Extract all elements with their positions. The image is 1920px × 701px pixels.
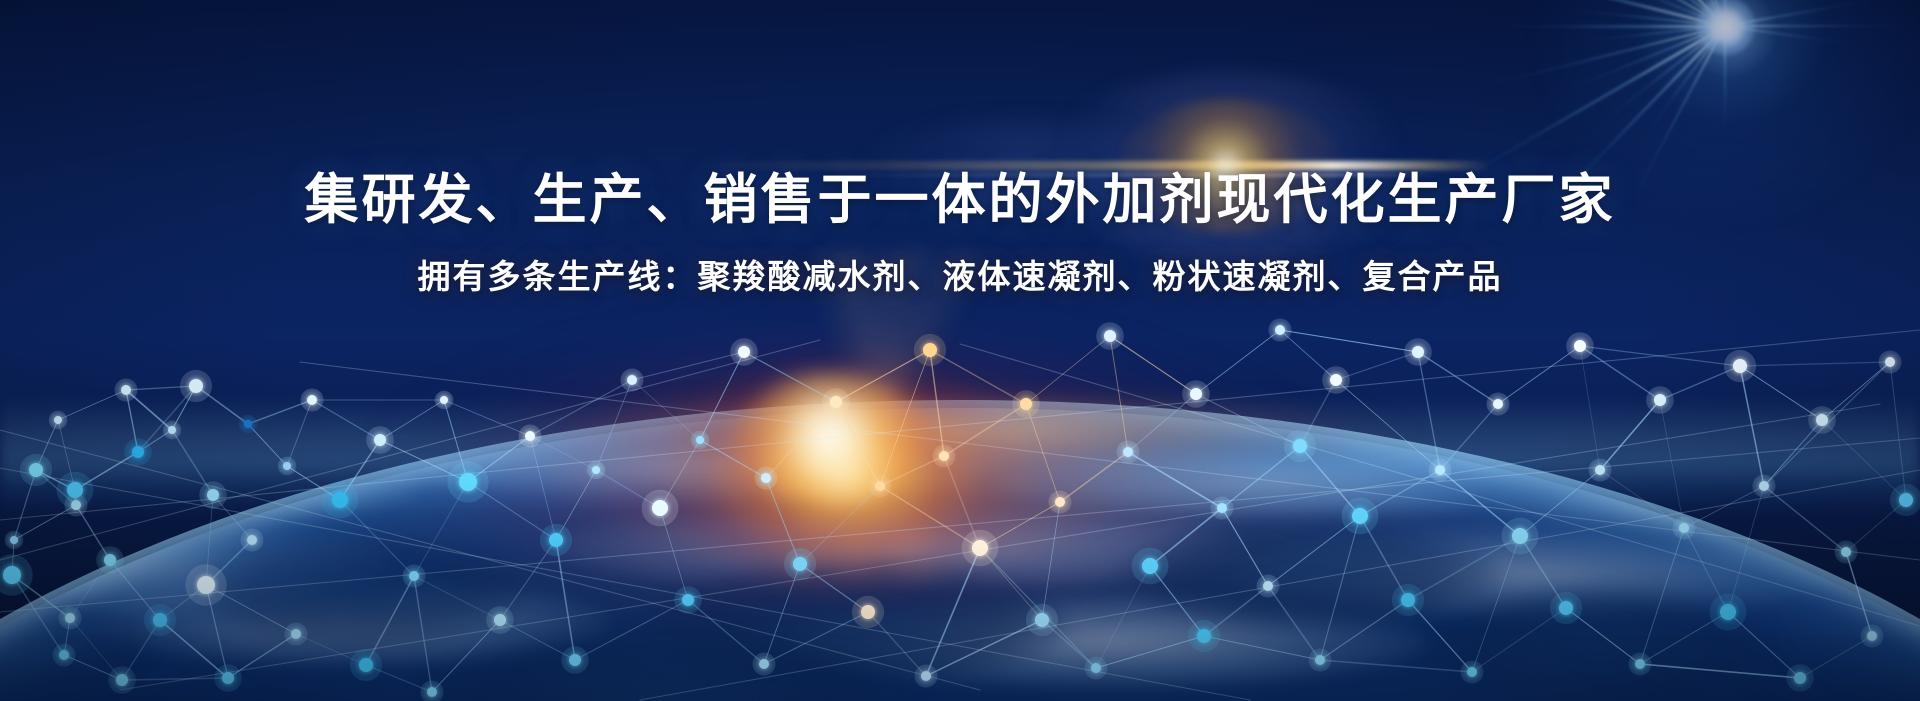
network-link <box>1408 536 1520 600</box>
network-node <box>1867 631 1877 641</box>
network-link <box>122 678 228 680</box>
network-node <box>1635 659 1645 669</box>
network-node <box>1595 465 1605 475</box>
network-link <box>688 600 764 664</box>
network-link <box>432 620 500 692</box>
network-node <box>197 576 215 594</box>
network-node <box>1467 667 1477 677</box>
network-link <box>575 600 688 660</box>
network-node <box>244 420 252 428</box>
network-link <box>1890 362 1906 500</box>
network-link <box>1096 636 1204 668</box>
network-node <box>121 385 131 395</box>
network-node <box>1352 508 1368 524</box>
network-node <box>283 462 291 470</box>
banner-text-block: 集研发、生产、销售于一体的外加剂现代化生产厂家 拥有多条生产线：聚羧酸减水剂、液… <box>0 168 1920 299</box>
network-node <box>549 533 563 547</box>
network-node <box>830 396 842 408</box>
network-node <box>1720 604 1736 620</box>
network-node <box>332 492 348 508</box>
network-nodes <box>0 319 1920 701</box>
network-node <box>440 396 448 404</box>
network-link <box>444 400 530 436</box>
network-node <box>1275 325 1285 335</box>
network-long-link <box>0 330 1920 520</box>
network-link <box>596 380 632 470</box>
network-link <box>836 402 880 486</box>
network-node <box>1142 558 1158 574</box>
network-link <box>1472 536 1520 672</box>
network-link <box>1728 486 1764 612</box>
network-link <box>926 620 1042 676</box>
network-node <box>759 659 769 669</box>
network-long-link <box>0 340 820 560</box>
network-node <box>569 654 581 666</box>
network-link <box>1320 660 1472 672</box>
network-node <box>1401 593 1415 607</box>
network-node <box>696 436 704 444</box>
network-node <box>1293 439 1307 453</box>
network-node <box>307 395 317 405</box>
network-node <box>409 571 419 581</box>
network-link <box>1222 508 1268 586</box>
network-node <box>1435 465 1445 475</box>
network-link <box>1498 346 1580 404</box>
network-node <box>921 671 931 681</box>
network-link <box>1600 400 1660 470</box>
network-node <box>59 650 69 660</box>
network-node <box>1197 629 1211 643</box>
network-node <box>54 416 62 424</box>
network-link <box>1640 528 1684 664</box>
network-link <box>800 486 880 564</box>
network-link <box>1822 420 1906 500</box>
network-node <box>459 473 477 491</box>
network-node <box>1217 503 1227 513</box>
network-link <box>1128 452 1222 508</box>
network-node <box>1315 655 1325 665</box>
network-link <box>414 576 500 620</box>
network-node <box>923 343 937 357</box>
network-node <box>1190 388 1202 400</box>
network-link <box>930 350 1026 404</box>
network-link <box>1196 330 1280 394</box>
network-node <box>861 605 875 619</box>
network-node <box>1654 394 1666 406</box>
network-link <box>1846 552 1872 636</box>
network-node <box>1885 357 1895 367</box>
network-node <box>1816 414 1828 426</box>
network-node <box>10 536 18 544</box>
network-node <box>3 566 21 584</box>
network-node <box>1055 497 1065 507</box>
network-node <box>1559 601 1573 615</box>
network-node <box>1412 346 1424 358</box>
network-node <box>1493 399 1503 409</box>
network-link <box>1268 586 1320 660</box>
network-node <box>132 446 144 458</box>
network-node <box>104 554 116 566</box>
network-node <box>972 540 988 556</box>
network-node <box>207 489 219 501</box>
network-node <box>1794 672 1806 684</box>
network-link <box>1472 608 1566 672</box>
hero-banner: 集研发、生产、销售于一体的外加剂现代化生产厂家 拥有多条生产线：聚羧酸减水剂、液… <box>0 0 1920 701</box>
network-node <box>427 687 437 697</box>
network-link <box>836 350 930 402</box>
network-node <box>1899 493 1913 507</box>
network-link <box>1026 336 1110 404</box>
network-long-link <box>640 470 1920 700</box>
network-node <box>1123 447 1133 457</box>
network-node <box>939 451 949 461</box>
network-node <box>1733 359 1747 373</box>
network-link <box>744 352 836 402</box>
network-node <box>652 500 668 516</box>
network-node <box>67 482 83 498</box>
network-node <box>761 473 771 483</box>
network-node <box>29 463 43 477</box>
network-link <box>1110 336 1196 394</box>
network-node <box>1330 374 1342 386</box>
network-node <box>247 535 257 545</box>
network-link <box>1684 486 1764 528</box>
network-long-link <box>960 344 1920 626</box>
network-link <box>1600 470 1684 528</box>
banner-subheadline: 拥有多条生产线：聚羧酸减水剂、液体速凝剂、粉状速凝剂、复合产品 <box>0 256 1920 299</box>
network-node <box>627 375 637 385</box>
network-link <box>944 404 1026 456</box>
network-node <box>1091 663 1101 673</box>
network-long-link <box>0 430 980 690</box>
network-node <box>189 379 203 393</box>
network-node <box>682 594 694 606</box>
network-link <box>1204 636 1320 660</box>
network-node <box>1679 523 1689 533</box>
network-node <box>1759 481 1769 491</box>
network-node <box>116 674 128 686</box>
network-node <box>738 346 750 358</box>
network-node <box>525 431 535 441</box>
network-link <box>556 540 575 660</box>
network-link <box>766 402 836 478</box>
network-link <box>414 576 432 692</box>
network-link <box>926 548 980 676</box>
network-node <box>875 481 885 491</box>
network-link <box>1110 336 1128 452</box>
network-link <box>1740 362 1890 366</box>
network-link <box>1336 380 1440 470</box>
network-link <box>530 380 632 436</box>
network-node <box>592 466 600 474</box>
network-node <box>65 613 75 623</box>
network-link <box>1440 404 1498 470</box>
network-node <box>1035 613 1049 627</box>
network-mesh-overlay <box>0 0 1920 701</box>
network-node <box>494 614 506 626</box>
network-node <box>1512 528 1528 544</box>
network-node <box>374 434 386 446</box>
network-link <box>1196 394 1300 446</box>
network-node <box>153 613 167 627</box>
network-link <box>1320 516 1360 660</box>
network-node <box>168 426 176 434</box>
network-node <box>1020 398 1032 410</box>
network-node <box>291 629 301 639</box>
network-node <box>359 658 373 672</box>
network-link <box>1042 502 1060 620</box>
network-node <box>222 672 234 684</box>
network-link <box>700 352 744 440</box>
network-link <box>1418 352 1440 470</box>
network-node <box>1263 581 1273 591</box>
network-node <box>1574 340 1586 352</box>
network-link <box>1660 400 1684 528</box>
network-node <box>793 557 807 571</box>
network-lines <box>0 330 1920 700</box>
network-link <box>1640 664 1800 678</box>
network-node <box>1104 330 1116 342</box>
network-node <box>1841 547 1851 557</box>
banner-headline: 集研发、生产、销售于一体的外加剂现代化生产厂家 <box>0 168 1920 234</box>
